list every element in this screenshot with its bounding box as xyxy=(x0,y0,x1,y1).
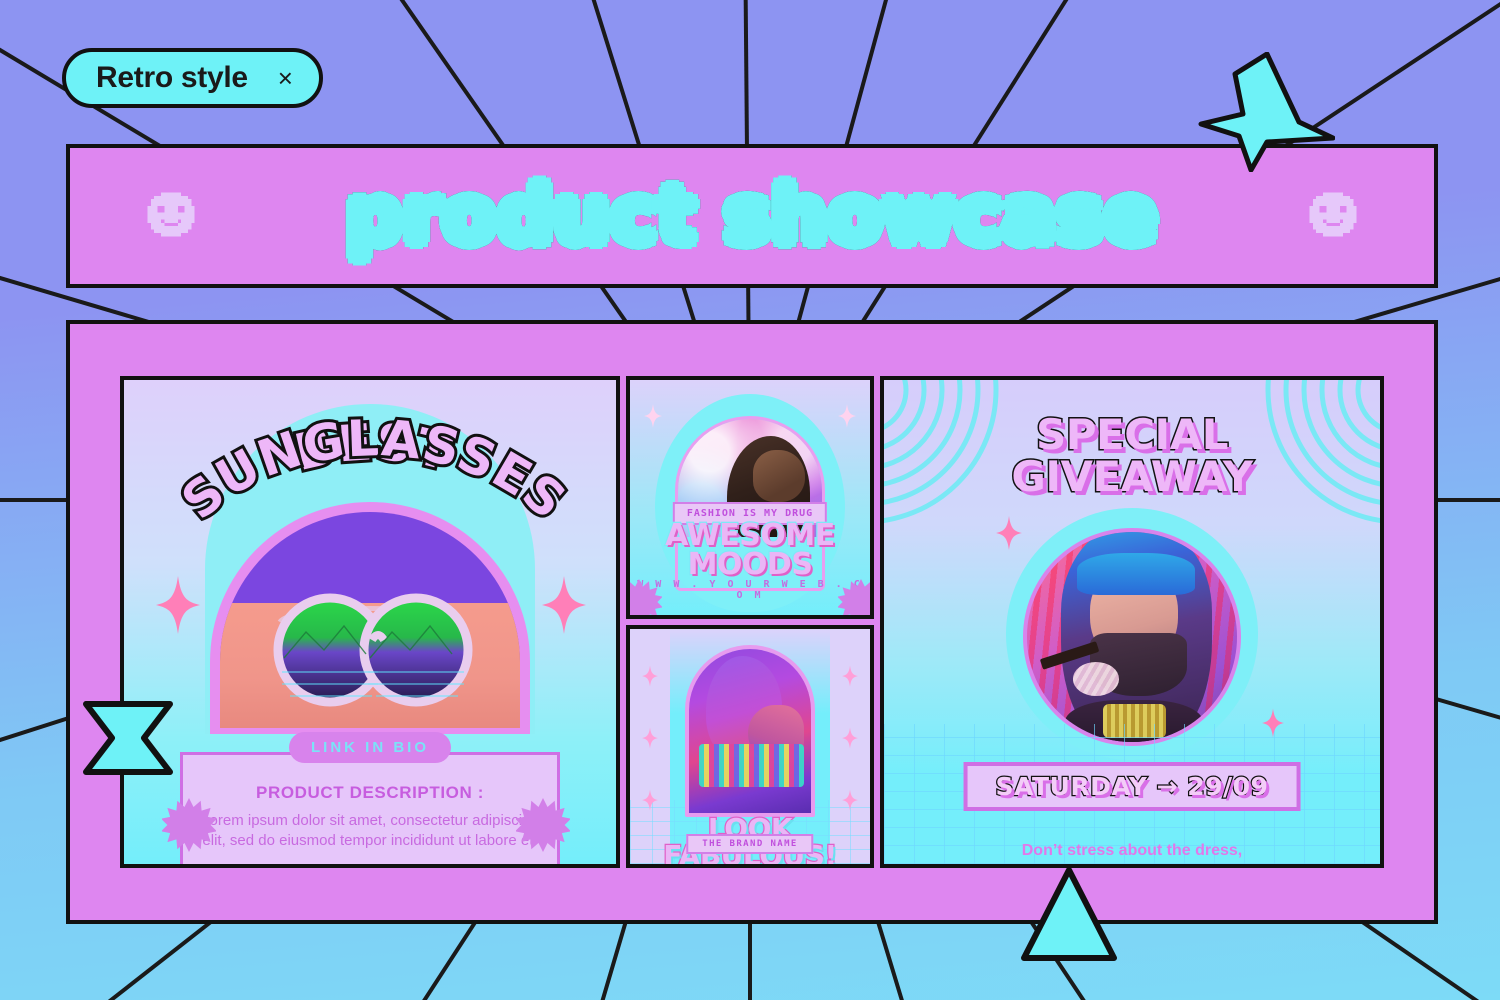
moods-title: AWESOME MOODS xyxy=(630,522,870,580)
burst-icon xyxy=(516,798,570,852)
description-title: PRODUCT DESCRIPTION : xyxy=(201,783,539,803)
burst-icon xyxy=(626,579,662,619)
page-title: product showcase xyxy=(346,171,1158,261)
sparkle-icon xyxy=(542,576,586,634)
brand-name-badge: THE BRAND NAME xyxy=(686,834,813,854)
giveaway-title-line1: SPECIAL xyxy=(884,414,1380,456)
sparkle-icon xyxy=(838,404,856,428)
tagline-line2: we’ll dress you to impress xyxy=(884,862,1380,868)
giveaway-date-box: SATURDAY → 29/09 xyxy=(964,762,1301,811)
moods-title-line2: MOODS xyxy=(630,551,870,580)
pixel-smiley-icon xyxy=(144,189,198,243)
tagline-line1: Don’t stress about the dress, xyxy=(884,840,1380,862)
card-grid: BEST SUNGLASSES LINK IN BIO PRODUCT DESC… xyxy=(120,376,1384,868)
card-awesome-moods[interactable]: FASHION IS MY DRUG AWESOME MOODS W W W .… xyxy=(626,376,874,619)
sparkle-icon xyxy=(644,404,662,428)
close-icon[interactable]: × xyxy=(278,65,293,91)
sparkle-icon xyxy=(642,727,658,749)
description-body: Lorem ipsum dolor sit amet, consectetur … xyxy=(201,811,539,852)
sparkle-icon xyxy=(842,665,858,687)
giveaway-tagline: Don’t stress about the dress, we’ll dres… xyxy=(884,840,1380,868)
sparkle-icon xyxy=(156,576,200,634)
card-look-fabulous[interactable]: LOOK FABULOUS! THE BRAND NAME xyxy=(626,625,874,868)
product-description-box: PRODUCT DESCRIPTION : Lorem ipsum dolor … xyxy=(180,752,560,868)
sunglasses-title: BEST SUNGLASSES xyxy=(124,390,620,570)
showcase-panel: BEST SUNGLASSES LINK IN BIO PRODUCT DESC… xyxy=(66,320,1438,924)
middle-column: FASHION IS MY DRUG AWESOME MOODS W W W .… xyxy=(626,376,874,868)
card-sunglasses[interactable]: BEST SUNGLASSES LINK IN BIO PRODUCT DESC… xyxy=(120,376,620,868)
giveaway-photo xyxy=(1027,532,1237,742)
pixel-smiley-icon xyxy=(1306,189,1360,243)
sparkle-icon xyxy=(642,665,658,687)
sparkle-icon xyxy=(842,789,858,811)
sparkle-icon xyxy=(996,516,1022,550)
star-burst-shape xyxy=(1195,52,1335,172)
card-special-giveaway[interactable]: SPECIAL GIVEAWAY xyxy=(880,376,1384,868)
website-url: W W W . Y O U R W E B . C O M xyxy=(630,579,870,601)
hourglass-shape xyxy=(82,700,174,776)
retro-style-label: Retro style xyxy=(96,61,248,95)
sparkle-icon xyxy=(1262,708,1284,738)
retro-style-tag[interactable]: Retro style × xyxy=(62,48,323,108)
giveaway-date: SATURDAY → 29/09 xyxy=(996,772,1269,801)
triangle-shape xyxy=(1018,866,1120,964)
link-in-bio-button[interactable]: LINK IN BIO xyxy=(289,732,451,763)
giveaway-title: SPECIAL GIVEAWAY xyxy=(884,414,1380,498)
burst-icon xyxy=(162,798,216,852)
fabulous-photo xyxy=(689,649,811,813)
giveaway-title-line2: GIVEAWAY xyxy=(884,456,1380,498)
burst-icon xyxy=(838,579,874,619)
sparkle-icon xyxy=(842,727,858,749)
sparkle-icon xyxy=(642,789,658,811)
